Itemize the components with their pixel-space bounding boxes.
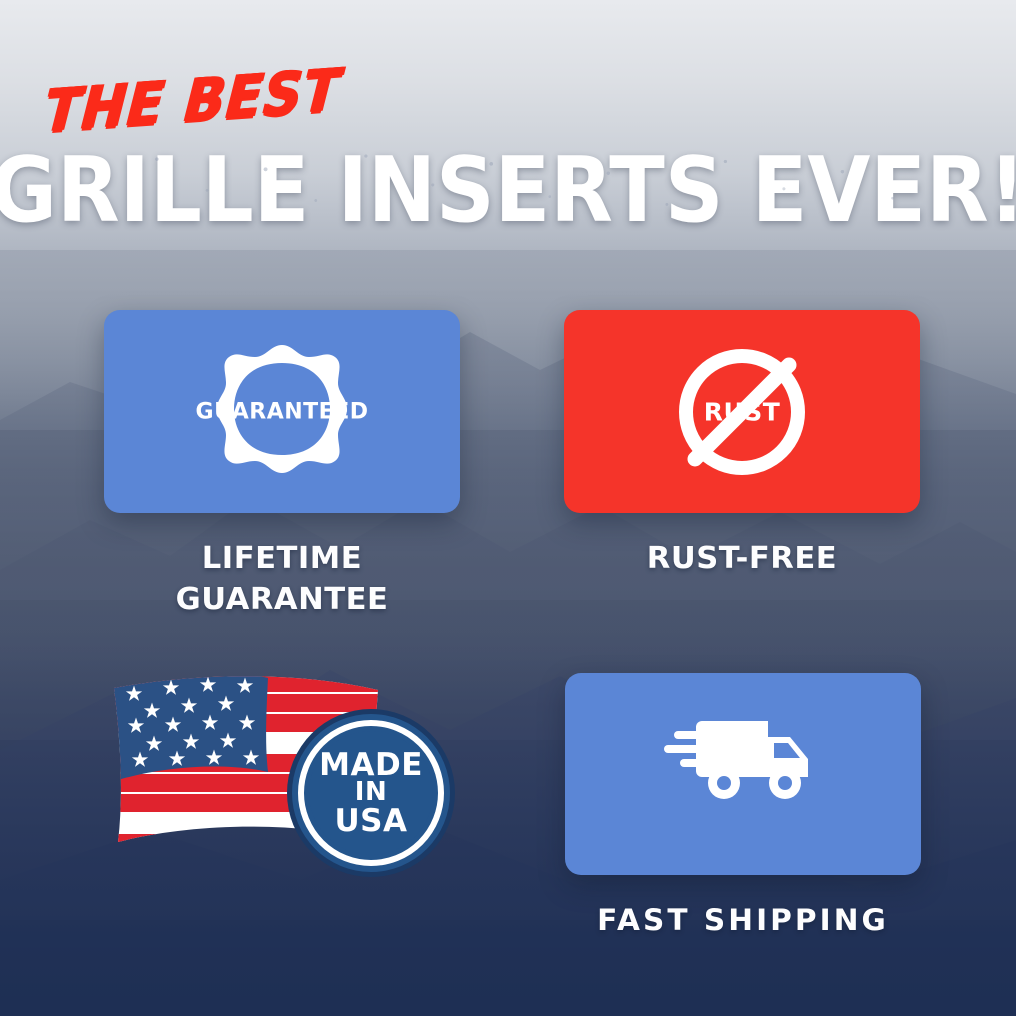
guarantee-icon-label: GUARANTEED — [196, 399, 369, 424]
feature-rust-free: RUST RUST-FREE — [564, 310, 920, 580]
rust-free-label: RUST-FREE — [560, 539, 923, 580]
delivery-truck-icon — [658, 699, 828, 849]
feature-made-in-usa: MADE IN USA — [100, 666, 470, 866]
no-rust-icon: RUST — [657, 332, 827, 492]
headline-block: THE BEST GRILLE INSERTS EVER! — [0, 0, 1016, 250]
usa-art-group: MADE IN USA — [100, 666, 470, 866]
fast-shipping-card[interactable] — [565, 673, 921, 875]
kicker-text: THE BEST — [42, 56, 344, 146]
feature-fast-shipping: FAST SHIPPING — [565, 673, 921, 940]
feature-lifetime-guarantee: GUARANTEED LIFETIME GUARANTEE — [104, 310, 460, 620]
fast-shipping-label: FAST SHIPPING — [561, 901, 924, 940]
guarantee-card[interactable]: GUARANTEED — [104, 310, 460, 513]
guarantee-label: LIFETIME GUARANTEE — [100, 539, 463, 620]
page-title: GRILLE INSERTS EVER! — [0, 138, 1016, 243]
fast-shipping-label-line1: FAST SHIPPING — [561, 901, 924, 940]
promo-poster: THE BEST GRILLE INSERTS EVER! GUARANTEED… — [0, 0, 1016, 1016]
rust-icon-label: RUST — [704, 397, 781, 426]
guarantee-seal-icon: GUARANTEED — [197, 337, 367, 487]
rust-free-label-line1: RUST-FREE — [560, 539, 923, 580]
made-in-usa-seal: MADE IN USA — [286, 708, 456, 878]
guarantee-label-line2: GUARANTEE — [100, 580, 463, 621]
guarantee-label-line1: LIFETIME — [100, 539, 463, 580]
rust-free-card[interactable]: RUST — [564, 310, 920, 513]
